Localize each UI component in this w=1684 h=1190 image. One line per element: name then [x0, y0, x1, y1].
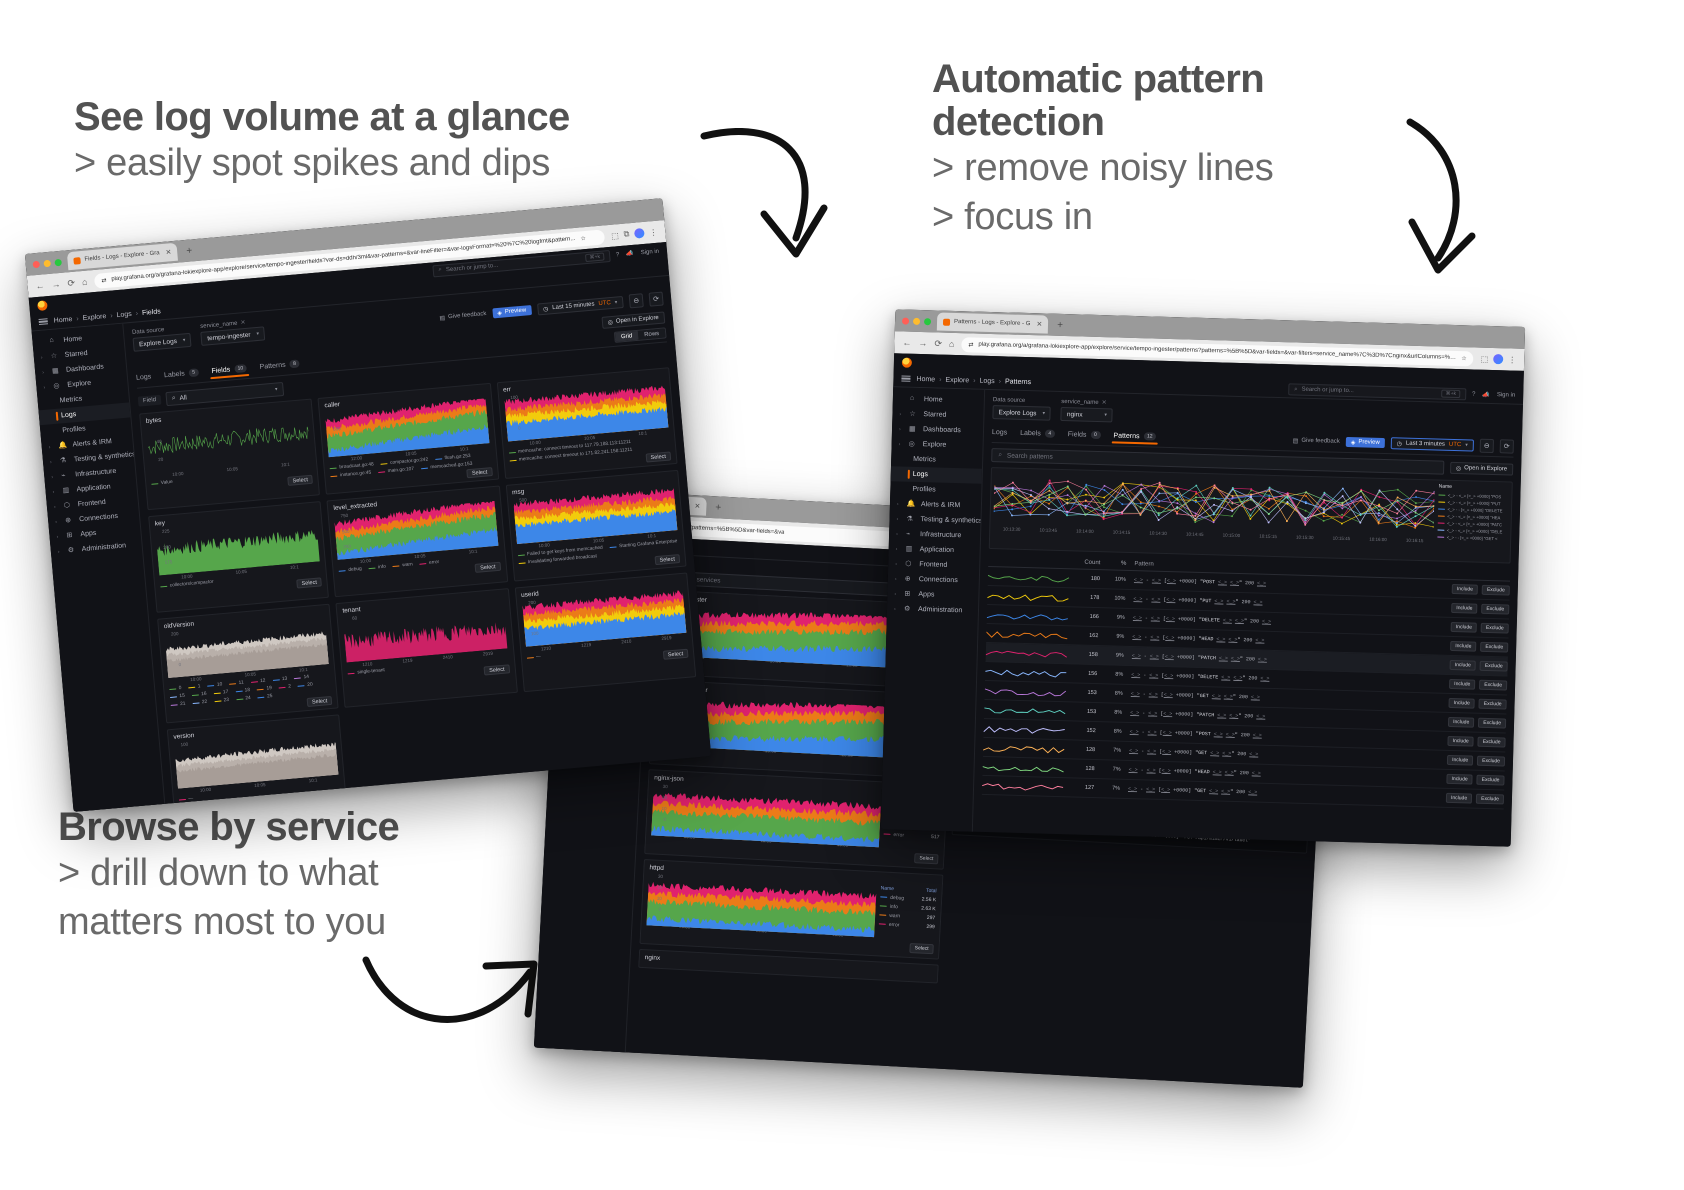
legend-entry[interactable]: 14	[294, 675, 309, 681]
breadcrumb-item-home[interactable]: Home	[53, 316, 72, 325]
legend-header-total: Total	[926, 888, 937, 895]
datasource-select[interactable]: Explore Logs ▾	[133, 333, 192, 352]
tab-label: Patterns	[1113, 432, 1139, 440]
legend-label: 0	[179, 686, 182, 691]
x-tick: 10:15:00	[1223, 533, 1241, 538]
breadcrumb-item-explore[interactable]: Explore	[945, 376, 969, 384]
sidebar-item-label: Metrics	[913, 456, 936, 464]
legend-swatch-icon	[348, 672, 355, 674]
feedback-icon: ▤	[439, 314, 445, 321]
field-panel-userid[interactable]: userid 200100 1210121924102919 — Select	[514, 572, 696, 692]
tab-logs[interactable]: Logs	[992, 429, 1007, 439]
time-range-picker[interactable]: ◷ Last 15 minutes UTC ▾	[537, 296, 624, 315]
legend-entry[interactable]: warn	[393, 562, 413, 569]
layout-segmented-control[interactable]: Grid Rows	[613, 327, 666, 343]
menu-icon[interactable]	[39, 318, 49, 325]
legend-entry[interactable]: flush.go:253	[435, 454, 471, 462]
chevron-right-icon[interactable]: ›	[48, 444, 54, 450]
row-actions[interactable]: Include Exclude	[1430, 773, 1504, 785]
include-button[interactable]: Include	[1446, 774, 1472, 785]
avatar[interactable]	[1493, 354, 1503, 364]
x-tick: 2410	[621, 639, 631, 645]
row-count: 128	[1069, 746, 1103, 753]
star-icon: ☆	[50, 351, 60, 361]
select-button[interactable]: Select	[914, 853, 938, 864]
browser-actions[interactable]: ⬚ ⋮	[1481, 354, 1517, 365]
legend-label: main.go:107	[387, 467, 414, 474]
layout-rows-option[interactable]: Rows	[638, 328, 666, 339]
legend-entry[interactable]: error 299	[879, 919, 935, 931]
new-tab-button[interactable]: +	[183, 245, 196, 257]
chevron-right-icon[interactable]: ›	[896, 516, 901, 522]
legend-entry[interactable]: 24	[236, 696, 251, 702]
legend-label: compactor.go:242	[390, 458, 428, 466]
remove-filter-icon[interactable]: ✕	[1102, 400, 1107, 406]
x-tick: 10:1	[308, 777, 317, 783]
browser-tab[interactable]: Patterns - Logs - Explore - G ✕	[937, 312, 1049, 333]
legend-entry[interactable]: memcached.go:153	[421, 462, 473, 471]
layout-switch[interactable]: Grid Rows	[613, 327, 666, 343]
sidebar-item-label: Frontend	[78, 499, 107, 508]
sidebar-nav-patterns[interactable]: ⌂ Home › ☆ Starred › ▦ Dashboards › ◎ Ex…	[881, 387, 985, 846]
exclude-button[interactable]: Exclude	[1477, 756, 1505, 767]
row-count: 158	[1072, 651, 1106, 658]
back-icon[interactable]: ←	[35, 280, 45, 291]
legend-entry[interactable]: 1	[188, 684, 201, 690]
back-icon[interactable]: ←	[902, 338, 911, 348]
tab-labels[interactable]: Labels 5	[164, 368, 199, 382]
legend-entry[interactable]: Value	[151, 480, 173, 487]
select-button[interactable]: Select	[909, 943, 933, 954]
patterns-header-actions[interactable]: ▤ Give feedback ◈ Preview ◷ Last 3 minut…	[1293, 433, 1514, 453]
reload-icon[interactable]: ⟳	[934, 338, 942, 349]
legend-label: 22	[202, 700, 208, 705]
browser-window-patterns[interactable]: Patterns - Logs - Explore - G ✕ + ← → ⟳ …	[881, 309, 1525, 846]
sidebar-item-label: Application	[76, 483, 111, 493]
sidebar-item-label: Infrastructure	[920, 531, 961, 539]
chevron-right-icon[interactable]: ›	[54, 503, 60, 509]
legend-entry[interactable]: 19	[257, 686, 272, 692]
include-button[interactable]: Include	[1449, 698, 1475, 709]
service-name-select[interactable]: nginx ▾	[1061, 407, 1113, 422]
service-legend[interactable]: Name Total debug 2.56 K info 2.63 K warn…	[878, 885, 936, 936]
site-info-icon[interactable]: ⇄	[101, 276, 107, 283]
panel-y-axis: 500	[325, 410, 342, 447]
callout-subtext: > easily spot spikes and dips	[74, 139, 570, 188]
field-panel-caller[interactable]: caller 500 12:0010:0510:1 broadcast.go:4…	[318, 383, 499, 495]
row-actions[interactable]: Include Exclude	[1435, 602, 1509, 614]
datasource-select[interactable]: Explore Logs ▾	[992, 405, 1051, 421]
legend-entry[interactable]: debug	[339, 567, 362, 574]
exclude-button[interactable]: Exclude	[1476, 794, 1504, 805]
legend-entry[interactable]: 18	[235, 688, 250, 694]
minimize-icon[interactable]	[913, 317, 920, 324]
col-percent: %	[1108, 560, 1134, 567]
legend-entry[interactable]: —	[179, 796, 194, 802]
connections-icon: ⊕	[905, 575, 914, 584]
row-actions[interactable]: Include Exclude	[1430, 792, 1504, 804]
legend-swatch-icon	[421, 467, 428, 469]
sidebar-item-administration[interactable]: › ⚙ Administration	[887, 601, 978, 619]
legend-entry[interactable]: 12	[250, 679, 265, 685]
exclude-button[interactable]: Exclude	[1482, 585, 1510, 596]
row-sparkline	[987, 588, 1073, 603]
x-tick: 10:1	[638, 430, 647, 436]
sidebar-item-label: Testing & synthetics	[74, 451, 136, 463]
x-tick: 10:00	[529, 440, 541, 446]
include-button[interactable]: Include	[1449, 679, 1475, 690]
home-icon[interactable]: ⌂	[949, 339, 955, 349]
help-icon[interactable]: ?	[1472, 391, 1476, 397]
breadcrumb-item-logs[interactable]: Logs	[979, 377, 994, 384]
y-tick: 0	[647, 906, 661, 912]
breadcrumb-item-home[interactable]: Home	[916, 375, 935, 383]
sidebar-item-label: Application	[920, 546, 954, 554]
close-tab-icon[interactable]: ✕	[165, 248, 172, 256]
row-sparkline	[982, 759, 1068, 774]
service-name-label: service_name✕	[1061, 398, 1113, 406]
grafana-logo-icon[interactable]	[902, 357, 912, 367]
y-tick: 500	[326, 426, 340, 432]
service-plot[interactable]: 3020100	[651, 783, 881, 843]
legend-entry[interactable]: 21	[171, 702, 186, 708]
bell-icon: 🔔	[58, 441, 68, 451]
open-in-explore-label: Open in Explore	[1464, 465, 1507, 472]
legend-label: 1	[198, 684, 201, 689]
chevron-right-icon[interactable]: ›	[896, 531, 901, 537]
time-range-label: Last 15 minutes	[552, 302, 595, 312]
global-search-input[interactable]: ⌕ Search or jump to... ⌘+k	[1288, 383, 1466, 400]
forward-icon[interactable]: →	[918, 338, 927, 348]
chevron-right-icon[interactable]: ›	[51, 474, 57, 480]
new-tab-button[interactable]: +	[1054, 319, 1066, 330]
sign-in-link[interactable]: Sign in	[640, 248, 659, 256]
exclude-button[interactable]: Exclude	[1480, 642, 1508, 653]
traffic-lights[interactable]	[902, 317, 931, 325]
include-button[interactable]: Include	[1451, 622, 1477, 633]
legend-entry[interactable]: 20	[298, 683, 313, 689]
legend-swatch-icon	[369, 567, 376, 569]
legend-entry[interactable]: collectors/compactor	[160, 580, 214, 590]
give-feedback-button[interactable]: ▤ Give feedback	[439, 310, 486, 321]
extensions-icon[interactable]: ⬚	[611, 231, 619, 241]
exclude-button[interactable]: Exclude	[1477, 775, 1505, 786]
legend-entry[interactable]: main.go:107	[378, 467, 414, 475]
search-shortcut: ⌘+k	[1442, 390, 1461, 399]
time-range-picker[interactable]: ◷ Last 3 minutes UTC ▾	[1391, 437, 1474, 451]
include-button[interactable]: Include	[1447, 755, 1473, 766]
refresh-button[interactable]: ⟳	[1500, 439, 1514, 453]
legend-entry[interactable]: 22	[192, 700, 207, 706]
more-icon[interactable]: ⋮	[649, 227, 658, 237]
tab-logs[interactable]: Logs	[136, 373, 152, 384]
frontend-icon: ⬡	[64, 501, 74, 511]
row-actions[interactable]: Include Exclude	[1431, 735, 1505, 747]
chevron-right-icon[interactable]: ›	[896, 546, 901, 552]
tab-fields[interactable]: Fields 10	[211, 364, 247, 378]
select-button[interactable]: Select	[287, 475, 313, 486]
legend-swatch-icon	[518, 554, 525, 556]
field-panel-version[interactable]: version 100 10:0010:0510:1 — Select	[167, 714, 347, 812]
y-tick: 500	[335, 528, 349, 534]
close-tab-icon[interactable]: ✕	[1036, 320, 1042, 328]
close-icon[interactable]	[32, 260, 40, 268]
bookmark-icon[interactable]: ☆	[1461, 355, 1467, 362]
legend-swatch-icon	[509, 459, 516, 461]
exclude-button[interactable]: Exclude	[1478, 737, 1506, 748]
service-panel-httpd[interactable]: httpd 3020100 Name Total debug 2.56 K in…	[639, 859, 943, 960]
select-button[interactable]: Select	[654, 554, 680, 565]
legend-entry[interactable]: error	[419, 560, 439, 567]
y-tick: 0	[652, 816, 666, 822]
include-button[interactable]: Include	[1452, 584, 1478, 595]
field-panel-oldVersion[interactable]: oldVersion 2000 10:0010:0510:1 0 1 10 11…	[157, 604, 339, 724]
select-button[interactable]: Select	[484, 664, 510, 675]
legend-swatch-icon	[229, 683, 236, 685]
external-link-icon: ◎	[1456, 465, 1461, 472]
news-icon[interactable]: 📣	[1482, 391, 1490, 398]
tab-label: Fields	[211, 366, 230, 375]
exclude-button[interactable]: Exclude	[1480, 661, 1508, 672]
select-button[interactable]: Select	[663, 649, 689, 660]
topbar-actions[interactable]: ? 📣 Sign in	[1472, 391, 1515, 399]
legend-entry[interactable]: error 517	[883, 829, 939, 841]
patterns-timeseries-chart[interactable]: 10:13:3010:13:4510:14:0010:14:1510:14:30…	[989, 467, 1513, 564]
tab-patterns[interactable]: Patterns 12	[1113, 431, 1156, 443]
y-tick: 10	[652, 805, 666, 811]
patterns-chart-legend[interactable]: Name <_> - <_> [<_> +0000] "POS <_> - <_…	[1433, 483, 1509, 559]
chevron-right-icon[interactable]: ›	[55, 518, 61, 524]
open-in-explore-button[interactable]: ◎ Open in Explore	[1450, 462, 1514, 476]
legend-swatch-icon	[251, 681, 258, 683]
traffic-lights[interactable]	[32, 258, 61, 268]
legend-label: 14	[303, 675, 309, 680]
row-actions[interactable]: Include Exclude	[1431, 754, 1505, 766]
row-actions[interactable]: Include Exclude	[1433, 678, 1507, 690]
give-feedback-button[interactable]: ▤ Give feedback	[1293, 437, 1340, 445]
include-button[interactable]: Include	[1450, 641, 1476, 652]
zoom-out-button[interactable]: ⊖	[629, 293, 644, 308]
legend-entry[interactable]: 17	[213, 690, 228, 696]
legend-entry[interactable]: 16	[192, 692, 207, 698]
menu-icon[interactable]	[901, 375, 910, 382]
chevron-right-icon[interactable]: ›	[897, 501, 902, 507]
refresh-button[interactable]: ⟳	[649, 292, 664, 307]
avatar[interactable]	[634, 228, 645, 239]
select-button[interactable]: Select	[475, 562, 501, 573]
include-button[interactable]: Include	[1446, 793, 1472, 804]
row-actions[interactable]: Include Exclude	[1434, 640, 1508, 652]
chevron-right-icon[interactable]: ›	[895, 576, 900, 582]
close-tab-icon[interactable]: ✕	[694, 502, 700, 510]
x-tick: 10:05	[226, 466, 238, 472]
chevron-right-icon[interactable]: ›	[41, 354, 47, 360]
chevron-right-icon[interactable]: ›	[899, 411, 904, 417]
tab-fields[interactable]: Fields 0	[1068, 430, 1101, 442]
x-tick: 10:14:45	[1186, 532, 1204, 537]
browser-actions[interactable]: ⬚ ⧉ ⋮	[611, 227, 658, 241]
include-button[interactable]: Include	[1447, 736, 1473, 747]
field-panel-msg[interactable]: msg 500 10:0010:0510:1 Failed to get key…	[505, 470, 686, 582]
extensions-icon[interactable]: ⬚	[1481, 354, 1489, 363]
tab-title: Patterns - Logs - Explore - G	[954, 319, 1031, 327]
bookmark-icon[interactable]: ☆	[580, 235, 586, 242]
minimize-icon[interactable]	[43, 259, 51, 267]
preview-badge[interactable]: ◈ Preview	[492, 305, 532, 318]
home-icon[interactable]: ⌂	[82, 277, 88, 287]
legend-total: 2.63 K	[921, 905, 936, 912]
chevron-right-icon[interactable]: ›	[52, 489, 58, 495]
field-panel-tenant[interactable]: tenant 60 1210121924102919 single-tenant…	[336, 588, 518, 708]
datasource-value: Explore Logs	[139, 338, 177, 348]
row-actions[interactable]: Include Exclude	[1435, 621, 1509, 633]
legend-entry[interactable]: 23	[214, 698, 229, 704]
legend-label: 15	[179, 694, 185, 699]
patterns-main: Data source Explore Logs ▾ service_name✕…	[972, 390, 1523, 847]
chevron-right-icon[interactable]: ›	[43, 384, 49, 390]
chevron-right-icon[interactable]: ›	[50, 459, 56, 465]
legend-entry[interactable]: 11	[229, 681, 244, 687]
forward-icon[interactable]: →	[51, 279, 61, 290]
x-tick: 1210	[362, 661, 372, 667]
row-actions[interactable]: Include Exclude	[1432, 697, 1506, 709]
service-name-select[interactable]: tempo-ingester ▾	[201, 326, 266, 346]
x-tick: 1210	[541, 646, 551, 652]
plot-y-axis: 3020100	[647, 873, 663, 912]
legend-entry[interactable]: 10	[207, 682, 222, 688]
x-tick: 10:00	[190, 676, 202, 682]
breadcrumb[interactable]: Home› Explore› Logs› Patterns	[916, 375, 1031, 385]
legend-entry[interactable]: 0	[169, 686, 182, 692]
chevron-down-icon: ▾	[275, 386, 278, 392]
exclude-button[interactable]: Exclude	[1479, 699, 1507, 710]
curved-arrow-icon	[360, 930, 550, 1050]
remove-filter-icon[interactable]: ✕	[240, 320, 246, 326]
browser-window-fields[interactable]: Fields - Logs - Explore - Gra ✕ + ← → ⟳ …	[25, 198, 711, 812]
row-percent: 8%	[1104, 728, 1130, 735]
exclude-button[interactable]: Exclude	[1479, 680, 1507, 691]
sign-in-link[interactable]: Sign in	[1497, 392, 1516, 399]
legend-entry[interactable]: single-tenant	[348, 668, 385, 676]
select-button[interactable]: Select	[296, 577, 322, 588]
breadcrumb-item-patterns[interactable]: Patterns	[1005, 378, 1031, 386]
legend-total: 517	[931, 833, 940, 839]
topbar-actions[interactable]: ? 📣 Sign in	[616, 248, 660, 259]
row-count: 128	[1069, 765, 1103, 772]
select-button[interactable]: Select	[645, 451, 671, 462]
x-tick: 2410	[443, 654, 453, 660]
search-shortcut: ⌘+k	[585, 252, 604, 262]
favicon-icon	[73, 257, 81, 265]
x-tick: 10:05	[593, 538, 605, 544]
select-button[interactable]: Select	[315, 791, 341, 802]
new-tab-button[interactable]: +	[712, 502, 724, 514]
legend-entry[interactable]: <_> - - [<_> +0000] "GET <	[1437, 534, 1507, 543]
sidebar-item-label: Alerts & IRM	[72, 438, 112, 448]
sidebar-item-label: Profiles	[912, 486, 936, 494]
tab-labels[interactable]: Labels 4	[1020, 429, 1055, 441]
datasource-value: Explore Logs	[998, 409, 1036, 417]
reload-icon[interactable]: ⟳	[67, 277, 75, 289]
infrastructure-icon: ⌁	[906, 530, 915, 539]
breadcrumb-separator: ›	[135, 310, 138, 317]
service-label-text: service_name	[1061, 399, 1099, 406]
field-panel-bytes[interactable]: bytes 4020 10:0010:0510:1 Value Select	[139, 398, 320, 510]
tab-patterns[interactable]: Patterns 8	[259, 359, 300, 373]
exclude-button[interactable]: Exclude	[1478, 718, 1506, 729]
legend-entry[interactable]: info	[369, 565, 387, 571]
field-filter-value: All	[179, 394, 187, 402]
select-button[interactable]: Select	[307, 696, 333, 707]
include-button[interactable]: Include	[1451, 603, 1477, 614]
row-actions[interactable]: Include Exclude	[1434, 659, 1508, 671]
more-icon[interactable]: ⋮	[1508, 355, 1516, 364]
breadcrumb-item-logs[interactable]: Logs	[116, 310, 132, 318]
legend-swatch-icon	[192, 702, 199, 704]
news-icon[interactable]: 📣	[626, 250, 634, 258]
search-icon: ⌕	[998, 451, 1002, 459]
include-button[interactable]: Include	[1448, 717, 1474, 728]
legend-entry[interactable]: 2	[279, 684, 292, 690]
chevron-right-icon[interactable]: ›	[56, 533, 62, 539]
open-in-explore-button[interactable]: ◎ Open in Explore	[601, 311, 665, 328]
legend-entry[interactable]: 13	[272, 677, 287, 683]
legend-entry[interactable]: —	[526, 655, 541, 661]
chevron-right-icon[interactable]: ›	[894, 606, 899, 612]
row-actions[interactable]: Include Exclude	[1432, 716, 1506, 728]
chevron-right-icon[interactable]: ›	[58, 548, 64, 554]
zoom-out-button[interactable]: ⊖	[1480, 439, 1494, 453]
exclude-button[interactable]: Exclude	[1481, 604, 1509, 615]
field-panel-level_extracted[interactable]: level_extracted 750500250 10:0010:0510:1…	[327, 485, 508, 597]
chevron-right-icon[interactable]: ›	[895, 561, 900, 567]
maximize-icon[interactable]	[54, 258, 62, 266]
legend-entry[interactable]: instance.go:45	[330, 471, 371, 480]
breadcrumb-item-explore[interactable]: Explore	[82, 313, 106, 322]
legend-swatch-icon	[330, 467, 337, 469]
service-plot[interactable]: 3020100	[647, 873, 877, 933]
chevron-right-icon[interactable]: ›	[894, 591, 899, 597]
exclude-button[interactable]: Exclude	[1481, 623, 1509, 634]
close-icon[interactable]	[902, 317, 909, 324]
legend-swatch-icon	[378, 471, 385, 473]
chevron-right-icon[interactable]: ›	[899, 441, 904, 447]
legend-label: —	[188, 796, 193, 801]
site-info-icon[interactable]: ⇄	[968, 341, 973, 348]
preview-badge[interactable]: ◈ Preview	[1346, 437, 1385, 448]
chevron-right-icon[interactable]: ›	[899, 426, 904, 432]
field-panel-key[interactable]: key 225200175 10:0010:0510:1 collectors/…	[148, 501, 329, 613]
legend-entry[interactable]: 15	[170, 694, 185, 700]
legend-swatch-icon	[236, 698, 243, 700]
legend-entry[interactable]: 25	[258, 694, 273, 700]
split-icon[interactable]: ⧉	[623, 229, 630, 239]
grafana-logo-icon[interactable]	[37, 300, 48, 311]
include-button[interactable]: Include	[1450, 660, 1476, 671]
row-percent: 8%	[1105, 690, 1131, 697]
field-panel-err[interactable]: err 1000 10:0010:0510:1 memcache: connec…	[496, 367, 677, 479]
legend-label: instance.go:45	[340, 471, 372, 479]
row-actions[interactable]: Include Exclude	[1436, 584, 1510, 596]
legend-entry[interactable]: broadcast.go:48	[330, 462, 374, 471]
help-icon[interactable]: ?	[616, 252, 620, 258]
maximize-icon[interactable]	[924, 318, 931, 325]
select-button[interactable]: Select	[467, 467, 493, 478]
row-count: 178	[1073, 594, 1107, 601]
layout-grid-option[interactable]: Grid	[615, 331, 639, 342]
chevron-right-icon[interactable]: ›	[42, 369, 48, 375]
breadcrumb-item-fields[interactable]: Fields	[142, 308, 161, 317]
